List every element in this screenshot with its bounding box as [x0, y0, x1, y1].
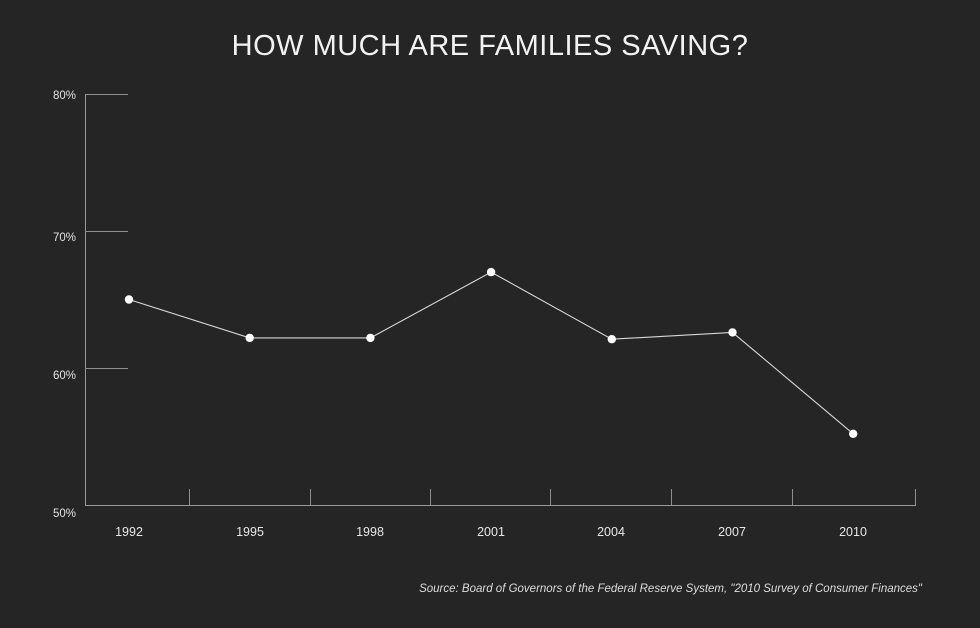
y-axis-labels: 80% 70% 60% 50% — [53, 90, 76, 520]
x-tick-marks — [190, 489, 916, 505]
x-tick-label-2007: 2007 — [718, 525, 746, 539]
chart-container: HOW MUCH ARE FAMILIES SAVING? 80% 70% 60… — [0, 0, 980, 628]
x-tick-label-1998: 1998 — [356, 525, 384, 539]
y-tick-label-80: 80% — [53, 90, 76, 102]
source-note: Source: Board of Governors of the Federa… — [419, 583, 922, 595]
x-tick-label-2001: 2001 — [477, 525, 505, 539]
data-point-2007[interactable] — [728, 328, 736, 336]
x-tick-label-2010: 2010 — [839, 525, 867, 539]
data-point-2004[interactable] — [608, 335, 616, 343]
data-point-1995[interactable] — [246, 334, 254, 342]
series-markers — [125, 268, 858, 438]
y-tick-label-60: 60% — [53, 370, 76, 382]
data-point-2001[interactable] — [487, 268, 495, 276]
y-tick-marks — [85, 95, 128, 369]
x-tick-label-1992: 1992 — [115, 525, 143, 539]
x-tick-label-2004: 2004 — [597, 525, 625, 539]
data-point-2010[interactable] — [849, 430, 857, 438]
data-point-1998[interactable] — [366, 334, 374, 342]
series-line-savings-rate — [129, 272, 853, 434]
data-point-1992[interactable] — [125, 295, 133, 303]
y-tick-label-50: 50% — [53, 508, 76, 520]
x-axis-labels: 1992 1995 1998 2001 2004 2007 2010 — [115, 525, 867, 539]
y-tick-label-70: 70% — [53, 232, 76, 244]
line-chart-plot: 80% 70% 60% 50% 1992 1995 1998 2001 2004… — [0, 0, 980, 628]
x-tick-label-1995: 1995 — [236, 525, 264, 539]
